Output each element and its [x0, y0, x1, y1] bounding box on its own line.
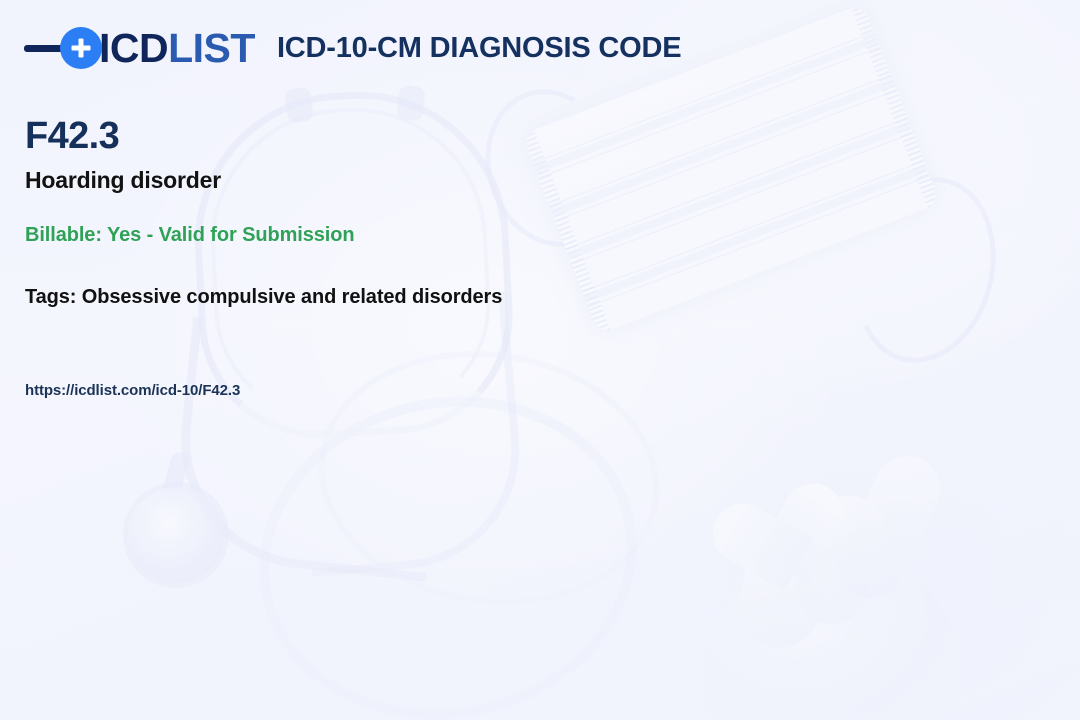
stethoscope-eartip-left-icon	[284, 86, 314, 123]
page-title: ICD-10-CM DIAGNOSIS CODE	[277, 32, 681, 65]
logo-dash-icon	[24, 45, 64, 52]
tags-line: Tags: Obsessive compulsive and related d…	[25, 286, 502, 309]
stethoscope-tube-left-icon	[168, 317, 451, 582]
mask-edge-left	[522, 130, 611, 334]
plus-icon	[60, 27, 102, 69]
diagnosis-description: Hoarding disorder	[25, 167, 221, 194]
stethoscope-arch-inner-icon	[204, 101, 496, 423]
hand-finger-1-icon	[826, 445, 951, 609]
logo-wordmark: ICDLIST	[99, 28, 255, 69]
hand-finger-3-icon	[734, 530, 831, 653]
stethoscope-coil-ring-icon	[229, 362, 667, 720]
stethoscope-eartip-right-icon	[396, 85, 426, 122]
icdlist-logo[interactable]: ICDLIST	[24, 27, 255, 69]
mask-earloop-left-icon	[465, 72, 638, 264]
logo-word-list: LIST	[168, 25, 255, 71]
stethoscope-tube-right-icon	[289, 291, 530, 577]
background-medical-photo	[0, 0, 1080, 720]
header: ICDLIST ICD-10-CM DIAGNOSIS CODE	[24, 27, 681, 69]
stethoscope-coil-ring-inner-icon	[302, 329, 676, 626]
mask-earloop-right-icon	[835, 162, 1014, 378]
hand-finger-2-icon	[787, 486, 894, 633]
logo-word-icd: ICD	[99, 25, 168, 71]
diagnosis-code: F42.3	[25, 116, 119, 158]
stethoscope-chestpiece-icon	[128, 487, 224, 583]
mask-edge-right	[851, 4, 940, 208]
paper-heart-icon	[674, 448, 820, 594]
background-veil	[0, 0, 1080, 720]
background-wash	[0, 0, 1080, 720]
source-url[interactable]: https://icdlist.com/icd-10/F42.3	[25, 382, 240, 399]
icd-code-card: ICDLIST ICD-10-CM DIAGNOSIS CODE F42.3 H…	[0, 0, 1080, 720]
hand-palm-icon	[691, 543, 968, 720]
billable-status: Billable: Yes - Valid for Submission	[25, 224, 354, 247]
stethoscope-stem-icon	[159, 451, 191, 506]
